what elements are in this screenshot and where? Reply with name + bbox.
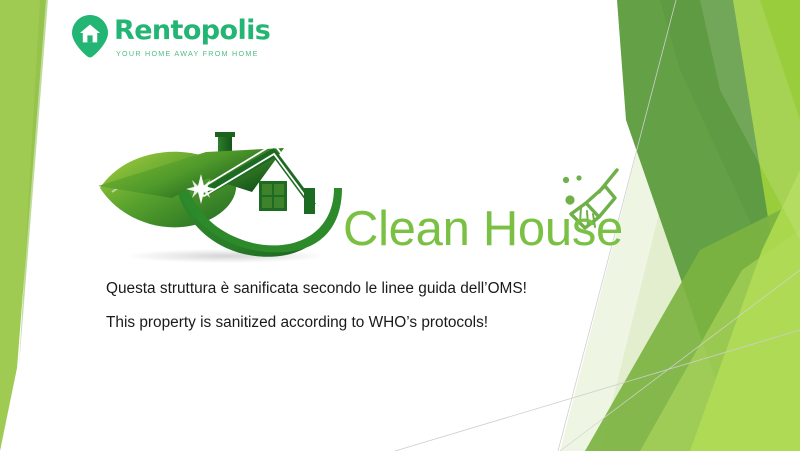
logo-chimney-cap: [215, 132, 235, 137]
left-green-wedge-shadow: [19, 0, 48, 366]
right-soft-highlight: [700, 0, 800, 240]
logo-house-post: [304, 188, 315, 214]
leaf-house-logo: [98, 126, 360, 266]
broom-sparkle-dot-small-a: [563, 177, 569, 183]
map-pin-house-icon: [70, 14, 110, 58]
message-italian: Questa struttura è sanificata secondo le…: [106, 281, 576, 297]
logo-window: [259, 181, 287, 211]
right-dark-green-band-overlay: [660, 0, 800, 330]
right-light-green-bottom: [690, 170, 800, 451]
message-block: Questa struttura è sanificata secondo le…: [106, 281, 576, 331]
brand-tagline: YOUR HOME AWAY FROM HOME: [116, 49, 259, 58]
right-pale-sheet-2: [600, 0, 800, 451]
brand-lockup: Rentopolis YOUR HOME AWAY FROM HOME: [70, 14, 270, 58]
right-dark-green-band: [617, 0, 800, 451]
brand-wordmark: Rentopolis: [114, 17, 270, 44]
right-pale-overlay-bottom: [640, 230, 800, 451]
right-bright-green-band: [733, 0, 800, 451]
left-green-wedge: [0, 0, 46, 451]
hairline-diagonal-lower: [395, 330, 800, 451]
brand-text-block: Rentopolis YOUR HOME AWAY FROM HOME: [114, 14, 270, 58]
page-title: Clean House: [343, 203, 623, 257]
hairline-diagonal-mid: [560, 270, 800, 451]
slide-canvas: Rentopolis YOUR HOME AWAY FROM HOME: [0, 0, 800, 451]
message-english: This property is sanitized according to …: [106, 315, 576, 331]
broom-sparkle-dot-small-b: [576, 175, 581, 180]
